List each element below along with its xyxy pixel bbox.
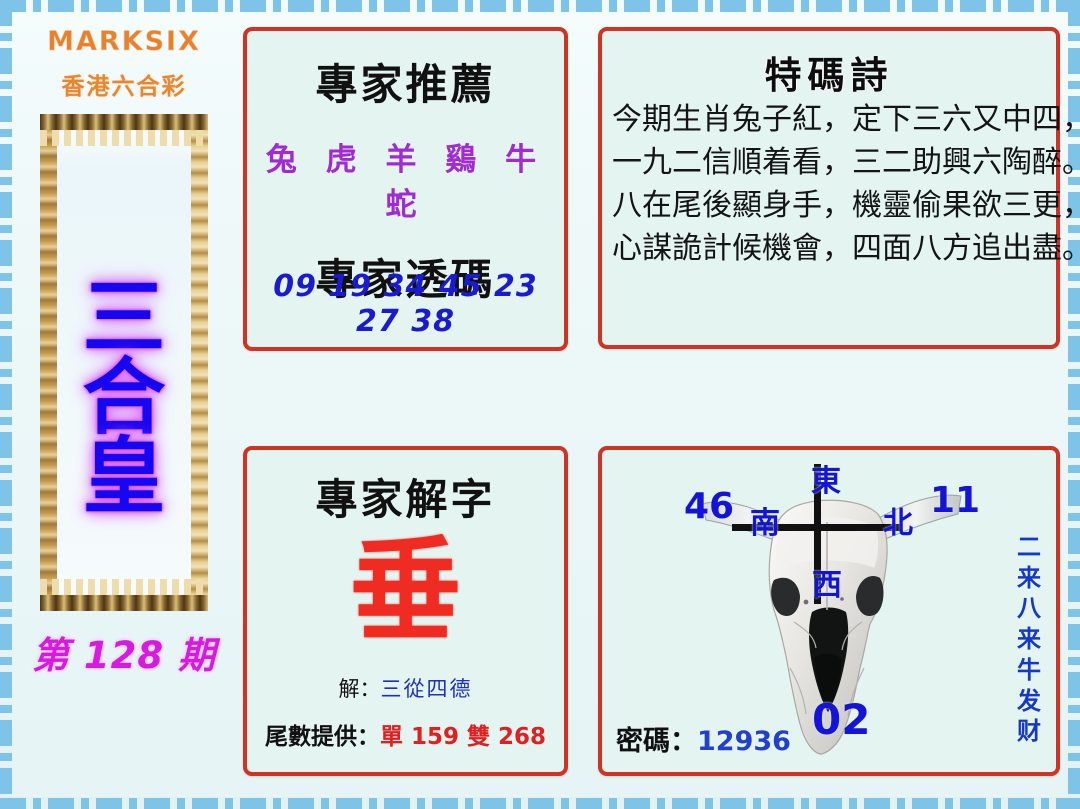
- direction-label-north: 北: [883, 498, 913, 542]
- frame-top-dashes: [0, 0, 1080, 12]
- word-explanation-row: 解：三從四德: [247, 673, 564, 703]
- tail-number-row: 尾數提供：單 159 雙 268: [247, 717, 564, 751]
- word-panel-title: 專家解字: [247, 466, 564, 527]
- skull-number-left: 46: [684, 486, 734, 527]
- poem-line-1: 今期生肖兔子紅，定下三六又中四，: [612, 99, 1046, 142]
- brand-chinese-logo: 香港六合彩: [18, 67, 230, 101]
- banner-top-fringe: [40, 130, 208, 146]
- word-explanation-value: 三從四德: [381, 677, 473, 701]
- frame-left-dashes: [0, 0, 12, 809]
- direction-label-west: 西: [812, 560, 842, 604]
- banner-left-border: [40, 130, 57, 595]
- brand-english-logo: MARKSIX: [18, 26, 230, 57]
- poem-line-2: 一九二信順着看，三二助興六陶醉。: [612, 142, 1046, 185]
- secret-code-row: 密碼：12936: [616, 719, 791, 758]
- issue-number-label: 第 128 期: [18, 625, 230, 679]
- tail-spacer: [459, 724, 467, 750]
- frame-bottom-dashes: [0, 798, 1080, 809]
- slogan-char-3: 八: [1014, 593, 1044, 624]
- banner-bottom-fringe: [40, 579, 208, 595]
- skull-vertical-slogan: 二 来 八 来 牛 发 财: [1014, 532, 1044, 747]
- poem-line-4: 心謀詭計候機會，四面八方追出盡。: [612, 228, 1046, 271]
- expert-number-list: 09 19 34 45 23 27 38: [247, 269, 564, 339]
- featured-chinese-character: 垂: [247, 535, 564, 647]
- slogan-char-5: 牛: [1014, 655, 1044, 686]
- skull-image-panel: 東 南 北 西 46 11 02 二 来 八 来 牛 发 财 密碼：12936: [598, 446, 1060, 776]
- slogan-char-4: 来: [1014, 624, 1044, 655]
- skull-number-right: 11: [930, 480, 980, 521]
- slogan-char-7: 财: [1014, 716, 1044, 747]
- word-explanation-label: 解：: [339, 677, 381, 701]
- left-column: MARKSIX 香港六合彩 三 合 皇 第 128 期: [18, 14, 230, 794]
- slogan-char-6: 发: [1014, 686, 1044, 717]
- slogan-char-2: 来: [1014, 563, 1044, 594]
- lottery-poster: MARKSIX 香港六合彩 三 合 皇 第 128 期 專家推薦 兔 虎 羊 鷄…: [0, 0, 1080, 809]
- direction-label-south: 南: [750, 498, 780, 542]
- direction-label-east: 東: [811, 456, 841, 500]
- banner-right-border: [191, 130, 208, 595]
- expert-panel-title: 專家推薦: [247, 51, 564, 112]
- banner-top-border: [40, 114, 208, 130]
- skull-number-bottom: 02: [812, 695, 870, 744]
- gold-scroll-banner: 三 合 皇: [40, 114, 208, 611]
- tail-odd-numbers: 單 159: [380, 724, 459, 750]
- expert-word-analysis-panel: 專家解字 垂 解：三從四德 尾數提供：單 159 雙 268: [243, 446, 568, 776]
- banner-char-1: 三: [57, 278, 191, 358]
- poem-line-3: 八在尾後顯身手，機靈偷果欲三更，: [612, 185, 1046, 228]
- slogan-char-1: 二: [1014, 532, 1044, 563]
- expert-zodiac-list: 兔 虎 羊 鷄 牛 蛇: [247, 134, 564, 224]
- secret-code-value: 12936: [697, 726, 791, 757]
- secret-code-label: 密碼：: [616, 726, 697, 757]
- tail-even-numbers: 雙 268: [467, 724, 546, 750]
- banner-char-3: 皇: [57, 437, 191, 517]
- banner-char-2: 合: [57, 358, 191, 438]
- special-code-poem-panel: 特碼詩 今期生肖兔子紅，定下三六又中四， 一九二信順着看，三二助興六陶醉。 八在…: [598, 27, 1060, 349]
- poem-title: 特碼詩: [612, 45, 1046, 99]
- tail-number-label: 尾數提供：: [265, 724, 380, 750]
- banner-title-text: 三 合 皇: [57, 278, 191, 517]
- banner-bottom-border: [40, 595, 208, 611]
- expert-recommend-panel: 專家推薦 兔 虎 羊 鷄 牛 蛇 專家透碼 09 19 34 45 23 27 …: [243, 27, 568, 351]
- skull-illustration-area: 東 南 北 西 46 11 02 二 来 八 来 牛 发 财 密碼：12936: [602, 450, 1056, 772]
